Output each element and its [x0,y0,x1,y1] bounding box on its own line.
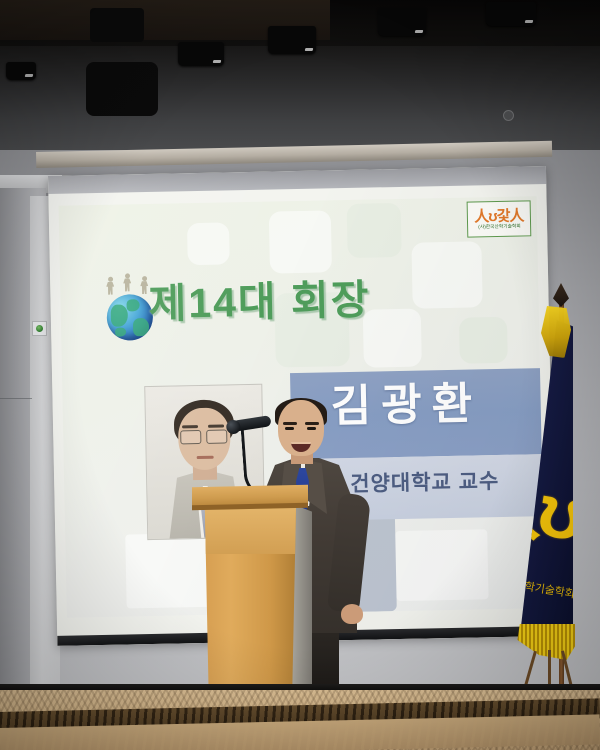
spotlight-icon [378,8,426,36]
chairman-affiliation: 건양대학교 교수 [350,469,500,498]
stage-ceiling [0,0,600,152]
exit-sign-icon [32,321,47,336]
society-logo-text: (사)한국산학기술학회 [478,223,521,230]
spotlight-icon [268,26,316,54]
podium-upper-band [203,508,296,554]
wall-seam [0,398,32,399]
decor-square [363,309,422,368]
spotlight-icon [90,8,144,42]
decor-square [411,241,482,308]
globe-icon [106,294,153,341]
person-figure-icon [140,276,148,296]
spotlight-icon [486,2,536,26]
decor-square [459,317,508,364]
spotlight-icon [178,42,224,66]
spotlight-icon [6,62,36,80]
person-figure-icon [106,277,114,297]
society-logo: 人ʊ갗人 (사)한국산학기술학회 [467,200,532,237]
ceiling-vent-icon [503,110,514,121]
conference-hall-photo: 人ʊ갗人 (사)한국산학기술학회 [0,0,600,750]
slide-title: 제14대 회장 [148,278,371,326]
person-figure-icon [123,273,131,293]
spotlight-icon [86,62,158,116]
decor-square [347,203,402,258]
society-logo-mark: 人ʊ갗人 [474,208,523,224]
decor-square [395,529,488,601]
decor-square [269,210,332,273]
decor-square [187,222,230,265]
